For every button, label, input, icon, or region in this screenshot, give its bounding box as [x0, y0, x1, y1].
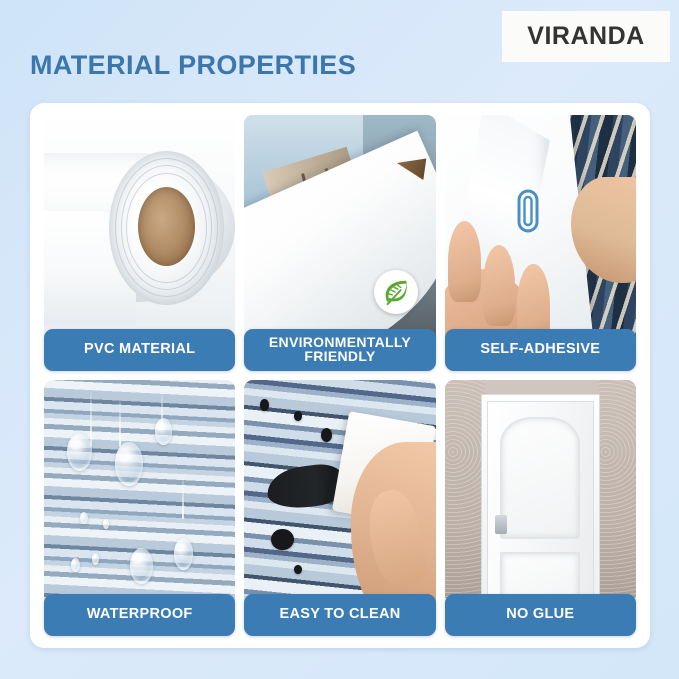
water-droplet-shape [92, 553, 100, 565]
droplet-trail-shape [119, 399, 121, 447]
feature-card-no-glue: NO GLUE [445, 380, 636, 636]
eco-peel-photo [244, 115, 435, 355]
stain-shape [294, 565, 302, 575]
feature-label-pvc-material: PVC MATERIAL [44, 329, 235, 371]
stain-shape [271, 529, 294, 551]
water-droplet-shape [155, 418, 172, 444]
pvc-roll-photo [44, 115, 235, 355]
finger-shape [448, 221, 481, 303]
water-droplet-shape [80, 512, 88, 524]
droplet-trail-shape [182, 476, 184, 519]
waterproof-photo [44, 380, 235, 620]
water-droplet-shape [174, 538, 193, 569]
droplet-trail-shape [90, 390, 92, 448]
wall-shape [445, 380, 485, 620]
feature-label-no-glue: NO GLUE [445, 594, 636, 636]
water-droplet-shape [67, 433, 92, 471]
feature-label-waterproof: WATERPROOF [44, 594, 235, 636]
door-shape [487, 401, 594, 620]
water-droplet-shape [71, 558, 81, 572]
brand-name: VIRANDA [527, 22, 644, 51]
feature-label-self-adhesive: SELF-ADHESIVE [445, 329, 636, 371]
finger-shape [483, 245, 516, 327]
door-panel-top-shape [500, 417, 580, 538]
feature-label-easy-to-clean: EASY TO CLEAN [244, 594, 435, 636]
door-frame-shape [481, 394, 600, 620]
stain-shape [321, 428, 332, 442]
water-droplet-shape [115, 442, 144, 485]
leaf-icon [381, 277, 411, 307]
feature-card-pvc-material: PVC MATERIAL [44, 115, 235, 371]
wall-shape [598, 380, 636, 620]
feature-grid: PVC MATERIAL [44, 115, 636, 636]
water-droplet-shape [103, 519, 109, 529]
feature-label-environmentally-friendly: ENVIRONMENTALLYFRIENDLY [244, 329, 435, 371]
easy-to-clean-photo [244, 380, 435, 620]
feature-card-environmentally-friendly: ENVIRONMENTALLYFRIENDLY [244, 115, 435, 371]
feature-card-waterproof: WATERPROOF [44, 380, 235, 636]
feature-panel: PVC MATERIAL [30, 103, 650, 648]
no-glue-photo [445, 380, 636, 620]
feature-card-self-adhesive: SELF-ADHESIVE [445, 115, 636, 371]
page-title: MATERIAL PROPERTIES [30, 50, 356, 81]
roll-core-shape [138, 187, 195, 266]
feature-card-easy-to-clean: EASY TO CLEAN [244, 380, 435, 636]
self-adhesive-photo [445, 115, 636, 355]
paperclip-icon [515, 187, 541, 235]
brand-logo: VIRANDA [502, 11, 670, 62]
water-droplet-shape [130, 548, 153, 584]
door-handle-shape [495, 515, 507, 535]
stain-shape [294, 411, 302, 421]
stain-shape [260, 399, 270, 411]
